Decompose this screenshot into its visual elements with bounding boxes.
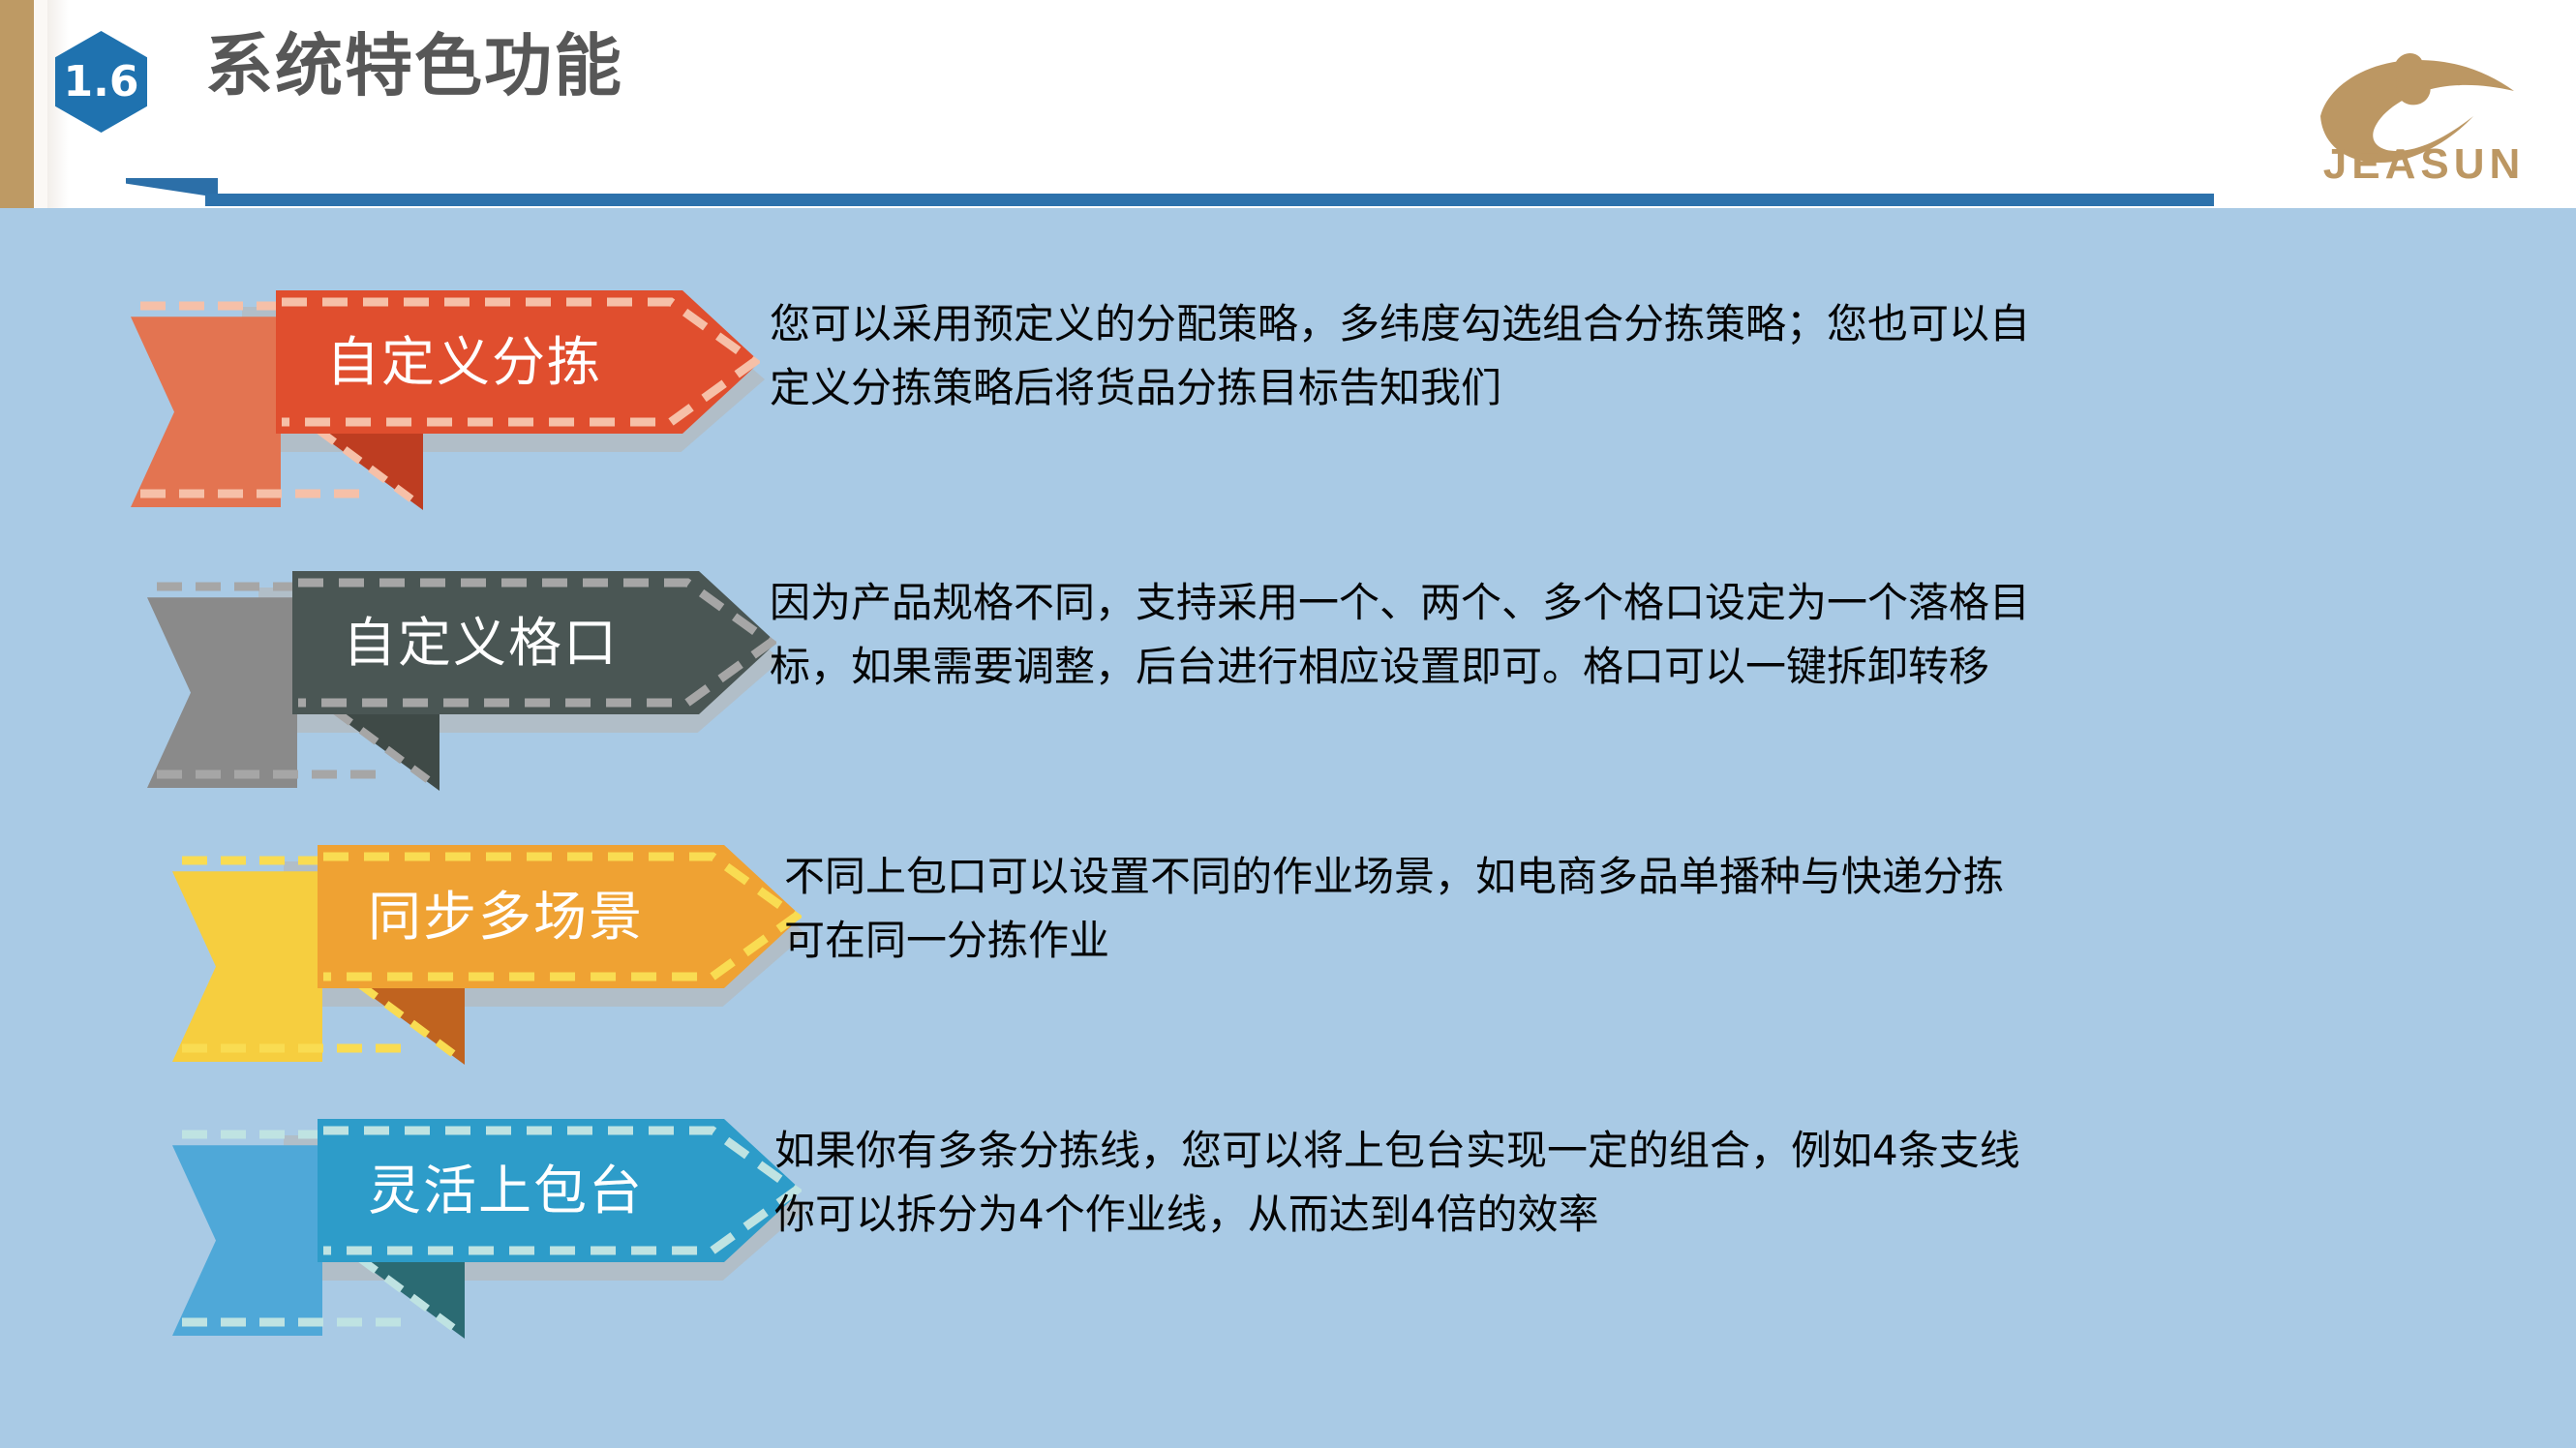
feature-row-3: 同步多场景 不同上包口可以设置不同的作业场景，如电商多品单播种与快递分拣 可在同…: [0, 808, 2576, 1099]
feature-row-1: 自定义分拣 您可以采用预定义的分配策略，多纬度勾选组合分拣策略；您也可以自 定义…: [0, 254, 2576, 544]
page-title: 系统特色功能: [205, 27, 623, 106]
feature-label-2: 自定义格口: [343, 617, 619, 670]
feature-description-1: 您可以采用预定义的分配策略，多纬度勾选组合分拣策略；您也可以自 定义分拣策略后将…: [770, 292, 2348, 420]
slide-root: 1.6 系统特色功能 JEASUN: [0, 0, 2576, 1448]
section-number-label: 1.6: [64, 61, 139, 104]
slide-header: 1.6 系统特色功能 JEASUN: [0, 0, 2576, 208]
company-logo-text: JEASUN: [2293, 140, 2555, 189]
ribbon-banner-3[interactable]: 同步多场景: [318, 845, 802, 988]
feature-label-4: 灵活上包台: [368, 1164, 644, 1218]
header-divider: [126, 178, 2091, 205]
header-divider-wedge: [126, 178, 218, 197]
feature-ribbon-2[interactable]: 自定义格口: [147, 534, 776, 825]
feature-ribbon-3[interactable]: 同步多场景: [172, 808, 802, 1099]
feature-label-1: 自定义分拣: [326, 336, 602, 389]
feature-row-2: 自定义格口 因为产品规格不同，支持采用一个、两个、多个格口设定为一个落格目 标，…: [0, 534, 2576, 825]
feature-row-4: 灵活上包台 如果你有多条分拣线，您可以将上包台实现一定的组合，例如4条支线 你可…: [0, 1082, 2576, 1373]
feature-description-2: 因为产品规格不同，支持采用一个、两个、多个格口设定为一个落格目 标，如果需要调整…: [770, 571, 2348, 699]
ribbon-banner-1[interactable]: 自定义分拣: [276, 290, 760, 434]
feature-description-3: 不同上包口可以设置不同的作业场景，如电商多品单播种与快递分拣 可在同一分拣作业: [784, 845, 2362, 973]
feature-ribbon-4[interactable]: 灵活上包台: [172, 1082, 802, 1373]
company-logo: JEASUN: [2293, 21, 2555, 191]
feature-description-4: 如果你有多条分拣线，您可以将上包台实现一定的组合，例如4条支线 你可以拆分为4个…: [774, 1119, 2352, 1247]
ribbon-banner-2[interactable]: 自定义格口: [292, 571, 776, 714]
ribbon-banner-4[interactable]: 灵活上包台: [318, 1119, 802, 1262]
section-number-badge: 1.6: [55, 31, 147, 133]
header-divider-bar: [205, 194, 2214, 206]
feature-ribbon-1[interactable]: 自定义分拣: [131, 254, 760, 544]
feature-label-3: 同步多场景: [368, 890, 644, 944]
